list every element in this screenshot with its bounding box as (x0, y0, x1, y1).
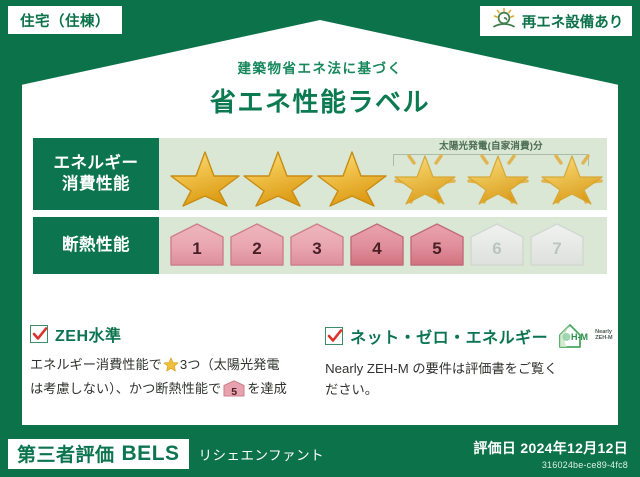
insulation-rating: 1 2 3 (159, 217, 607, 274)
building-type-chip: 住宅（住棟） (8, 6, 122, 34)
insulation-grade-number: 5 (409, 239, 465, 259)
insulation-grade-number: 2 (229, 239, 285, 259)
insulation-grade-number: 4 (349, 239, 405, 259)
performance-rows: エネルギー 消費性能 太陽光発電(自家消費)分 (33, 138, 607, 274)
evaluation-info: 評価日 2024年12月12日 316024be-ce89-4fc8 (473, 438, 628, 470)
insulation-row: 断熱性能 1 (33, 217, 607, 274)
criterion-nze: ネット・ゼロ・エネルギー H-M Nearly ZEH-M Nearly ZEH… (325, 322, 612, 401)
zeh-text-a: エネルギー消費性能で (30, 357, 162, 372)
nze-text-a: Nearly ZEH-M の要件は評価書をご覧く (325, 361, 557, 376)
label-footer: 第三者評価 BELS リシェエンファント 評価日 2024年12月12日 316… (0, 430, 640, 477)
insulation-grade-2: 2 (229, 223, 285, 267)
bels-jp-label: 第三者評価 (17, 440, 115, 467)
insulation-label-text: 断熱性能 (62, 235, 130, 256)
energy-consumption-label: エネルギー 消費性能 (33, 138, 159, 210)
criterion-nze-text: Nearly ZEH-M の要件は評価書をご覧ください。 (325, 358, 612, 401)
zeh-text-d: を達成 (247, 381, 287, 396)
criterion-zeh-text: エネルギー消費性能で3つ（太陽光発電は考慮しない）、かつ断熱性能で5を達成 (30, 354, 315, 400)
evaluation-date: 評価日 2024年12月12日 (473, 438, 628, 458)
insulation-grade-6: 6 (469, 223, 525, 267)
star-solar (389, 144, 460, 208)
insulation-grade-1: 1 (169, 223, 225, 267)
insulation-grade-number: 3 (289, 239, 345, 259)
criterion-zeh: ZEH水準 エネルギー消費性能で3つ（太陽光発電は考慮しない）、かつ断熱性能で5… (30, 322, 315, 401)
insulation-badge-number: 5 (223, 384, 245, 401)
star-filled (242, 144, 313, 208)
star-filled (169, 144, 240, 208)
svg-text:H-M: H-M (571, 332, 588, 342)
title-main: 省エネ性能ラベル (0, 82, 640, 119)
label-title: 建築物省エネ法に基づく 省エネ性能ラベル (0, 57, 640, 119)
nze-checkbox[interactable] (325, 327, 343, 345)
insulation-label: 断熱性能 (33, 217, 159, 274)
bels-badge: 第三者評価 BELS (8, 439, 189, 469)
bels-en-label: BELS (122, 442, 180, 466)
insulation-grade-7: 7 (529, 223, 585, 267)
nze-text-b: ださい。 (325, 382, 378, 397)
criteria-section: ZEH水準 エネルギー消費性能で3つ（太陽光発電は考慮しない）、かつ断熱性能で5… (30, 322, 612, 401)
zeh-text-b: 3つ（太陽光発電 (180, 357, 280, 372)
renewable-equipment-label: 再エネ設備あり (522, 11, 624, 32)
star-solar (462, 144, 533, 208)
energy-consumption-rating: 太陽光発電(自家消費)分 (159, 138, 607, 210)
evaluation-id: 316024be-ce89-4fc8 (473, 460, 628, 470)
check-icon (32, 326, 48, 342)
zeh-text-c: は考慮しない）、かつ断熱性能で (30, 381, 221, 396)
renewable-equipment-chip: 再エネ設備あり (480, 6, 632, 36)
insulation-grade-3: 3 (289, 223, 345, 267)
star-solar (536, 144, 607, 208)
insulation-grade-number: 7 (529, 239, 585, 259)
building-type-label: 住宅（住棟） (20, 10, 110, 31)
criterion-zeh-header: ZEH水準 (30, 322, 315, 346)
energy-label-line1: エネルギー (54, 153, 139, 174)
insulation-grade-5: 5 (409, 223, 465, 267)
criterion-nze-title: ネット・ゼロ・エネルギー (350, 324, 548, 348)
building-name: リシェエンファント (199, 444, 325, 464)
check-icon (327, 328, 343, 344)
energy-consumption-row: エネルギー 消費性能 太陽光発電(自家消費)分 (33, 138, 607, 210)
star-filled (316, 144, 387, 208)
insulation-grade-scale: 1 2 3 (169, 223, 585, 267)
insulation-grade-number: 6 (469, 239, 525, 259)
energy-performance-label: 住宅（住棟） 再エネ設備あり 建築物省エネ法に基づく 省エネ性能ラベル (0, 0, 640, 477)
criterion-zeh-title: ZEH水準 (55, 322, 122, 346)
star-rating (159, 144, 607, 208)
sun-icon (491, 7, 517, 35)
star-icon (163, 360, 179, 375)
insulation-badge-icon: 5 (223, 380, 245, 397)
zeh-m-house-icon: H-M Nearly ZEH-M (557, 322, 612, 350)
criterion-nze-header: ネット・ゼロ・エネルギー H-M Nearly ZEH-M (325, 322, 612, 350)
zeh-m-sub2: ZEH-M (595, 336, 612, 342)
zeh-checkbox[interactable] (30, 325, 48, 343)
insulation-grade-number: 1 (169, 239, 225, 259)
energy-label-line2: 消費性能 (62, 174, 130, 195)
title-subtitle: 建築物省エネ法に基づく (0, 57, 640, 77)
insulation-grade-4: 4 (349, 223, 405, 267)
